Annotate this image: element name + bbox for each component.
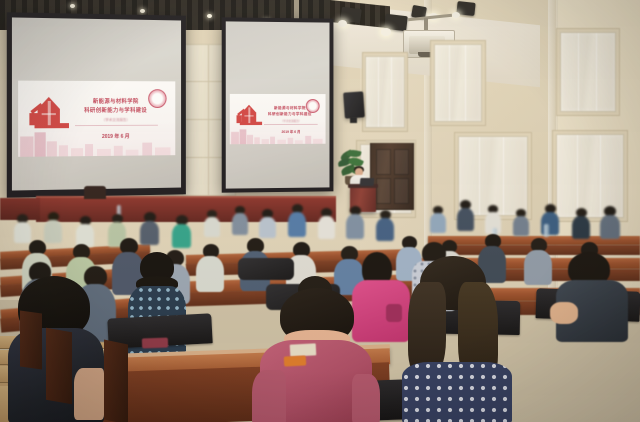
slide-subtitle-right: （学术交流报告） <box>268 119 314 123</box>
recessed-downlight-2 <box>140 9 145 13</box>
spotlight-lamp-1 <box>338 20 347 27</box>
wall-loudspeaker <box>343 91 365 118</box>
phone-on-desk <box>142 338 168 349</box>
attendee-left-back-1 <box>14 214 31 242</box>
attendee-foreground-right <box>556 252 628 338</box>
attendee-left-back-3 <box>76 216 94 246</box>
desk-end-panel-1 <box>46 328 72 405</box>
lecture-hall-photo: 新能源与材料学院 科研创新能力与学科建设 （学术交流报告） 2019 年 6 月 <box>0 0 640 422</box>
attendee-back-6 <box>572 208 590 238</box>
attendee-mid-back-4 <box>288 204 306 236</box>
spotlight-lamp-2 <box>381 28 391 36</box>
slide-title-line2-right: 科研创新能力与学科建设 <box>263 112 317 117</box>
right-slide: 新能源与材料学院 科研创新能力与学科建设 （学术交流报告） 2019 年 6 月 <box>230 94 326 144</box>
slide-subtitle: （学术交流报告） <box>79 118 152 123</box>
city-skyline-graphic <box>18 130 175 157</box>
attendee-left-back-2 <box>44 212 62 242</box>
acoustic-panel-3 <box>365 56 405 128</box>
attendee-mid-back-2 <box>232 206 248 234</box>
acoustic-panel-2 <box>560 32 616 112</box>
stage-door[interactable] <box>370 142 414 210</box>
left-projection-screen: 新能源与材料学院 科研创新能力与学科建设 （学术交流报告） 2019 年 6 月 <box>7 12 186 197</box>
attendee-back-7 <box>600 206 620 238</box>
attendee-foreground-polkadot <box>396 256 514 422</box>
slide-title-line2: 科研创新能力与学科建设 <box>73 108 158 116</box>
attendee-back-2 <box>457 200 474 230</box>
attendee-mid-back-3 <box>259 209 276 237</box>
slide-title-line1-right: 新能源与材料学院 <box>266 106 314 111</box>
attendee-mid-4 <box>524 238 552 284</box>
right-projection-screen: 新能源与材料学院 科研创新能力与学科建设 （学术交流报告） 2019 年 6 月 <box>222 17 334 192</box>
recessed-downlight-3 <box>207 14 212 18</box>
attendee-mid-6 <box>196 244 224 290</box>
attendee-back-4 <box>513 209 529 235</box>
acoustic-panel-1 <box>434 44 482 122</box>
desk-end-panel-3 <box>20 310 42 369</box>
attendee-mid-back-6 <box>346 206 364 238</box>
city-skyline-graphic-right <box>230 128 326 144</box>
attendee-left-back-6 <box>172 215 191 247</box>
head-table-chair <box>84 186 106 199</box>
attendee-mid-back-1 <box>204 210 220 236</box>
backpack-on-desk-1 <box>238 258 294 280</box>
slide-title-line1: 新能源与材料学院 <box>77 99 154 107</box>
orange-item-on-desk <box>284 355 306 366</box>
recessed-downlight-1 <box>70 4 75 8</box>
attendee-mid-back-7 <box>376 210 394 240</box>
attendee-mid-back-5 <box>318 208 335 238</box>
presenter-laptop <box>360 178 375 186</box>
spotlight-lamp-4 <box>452 12 460 18</box>
left-slide: 新能源与材料学院 科研创新能力与学科建设 （学术交流报告） 2019 年 6 月 <box>18 81 175 157</box>
water-bottle-2 <box>544 224 549 237</box>
door-lintel <box>366 140 416 143</box>
desk-end-panel-2 <box>104 339 128 422</box>
oil-pumpjack-icon-right <box>236 102 266 131</box>
attendee-back-1 <box>430 206 446 232</box>
speaker-bracket <box>350 117 357 123</box>
